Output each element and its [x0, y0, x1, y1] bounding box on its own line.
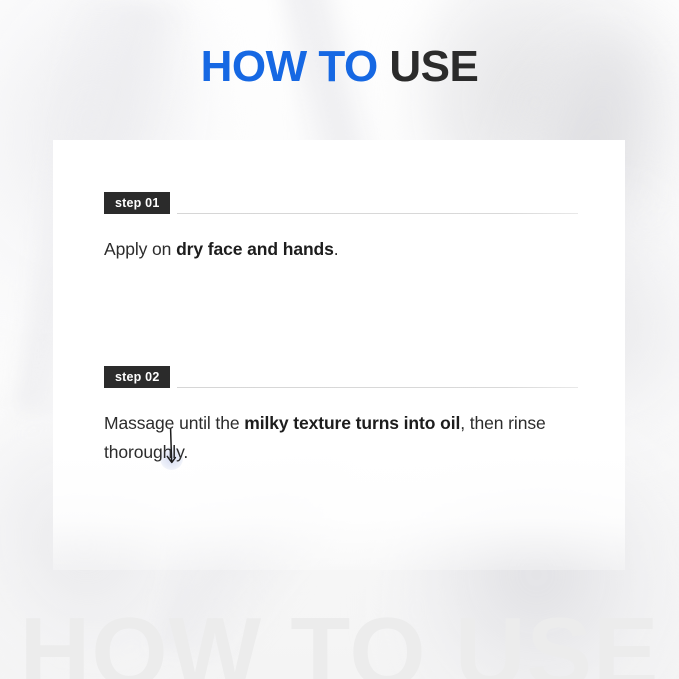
instructions-card: step 01 Apply on dry face and hands. ste… [53, 140, 625, 570]
step-01-divider [177, 213, 578, 214]
step-01-text-suffix: . [334, 239, 339, 259]
page-title-blue-part: HOW TO [201, 42, 378, 91]
step-block-02: step 02 Massage until the milky texture … [104, 366, 584, 468]
page-title: HOW TO USE [0, 45, 679, 89]
step-01-header: step 01 [104, 192, 578, 214]
step-02-text-bold: milky texture turns into oil [244, 413, 460, 433]
step-02-badge: step 02 [104, 366, 170, 388]
how-to-use-graphic: HOW TO USE HOW TO USE step 01 Apply on d… [0, 0, 679, 679]
step-02-divider [177, 387, 578, 388]
page-title-dark-part: USE [389, 42, 478, 91]
step-02-text: Massage until the milky texture turns in… [104, 409, 584, 468]
step-01-text: Apply on dry face and hands. [104, 235, 578, 264]
step-02-header: step 02 [104, 366, 578, 388]
step-01-text-bold: dry face and hands [176, 239, 334, 259]
step-02-text-prefix: Massage until the [104, 413, 244, 433]
step-01-text-prefix: Apply on [104, 239, 176, 259]
step-01-badge: step 01 [104, 192, 170, 214]
step-block-01: step 01 Apply on dry face and hands. [104, 192, 578, 264]
